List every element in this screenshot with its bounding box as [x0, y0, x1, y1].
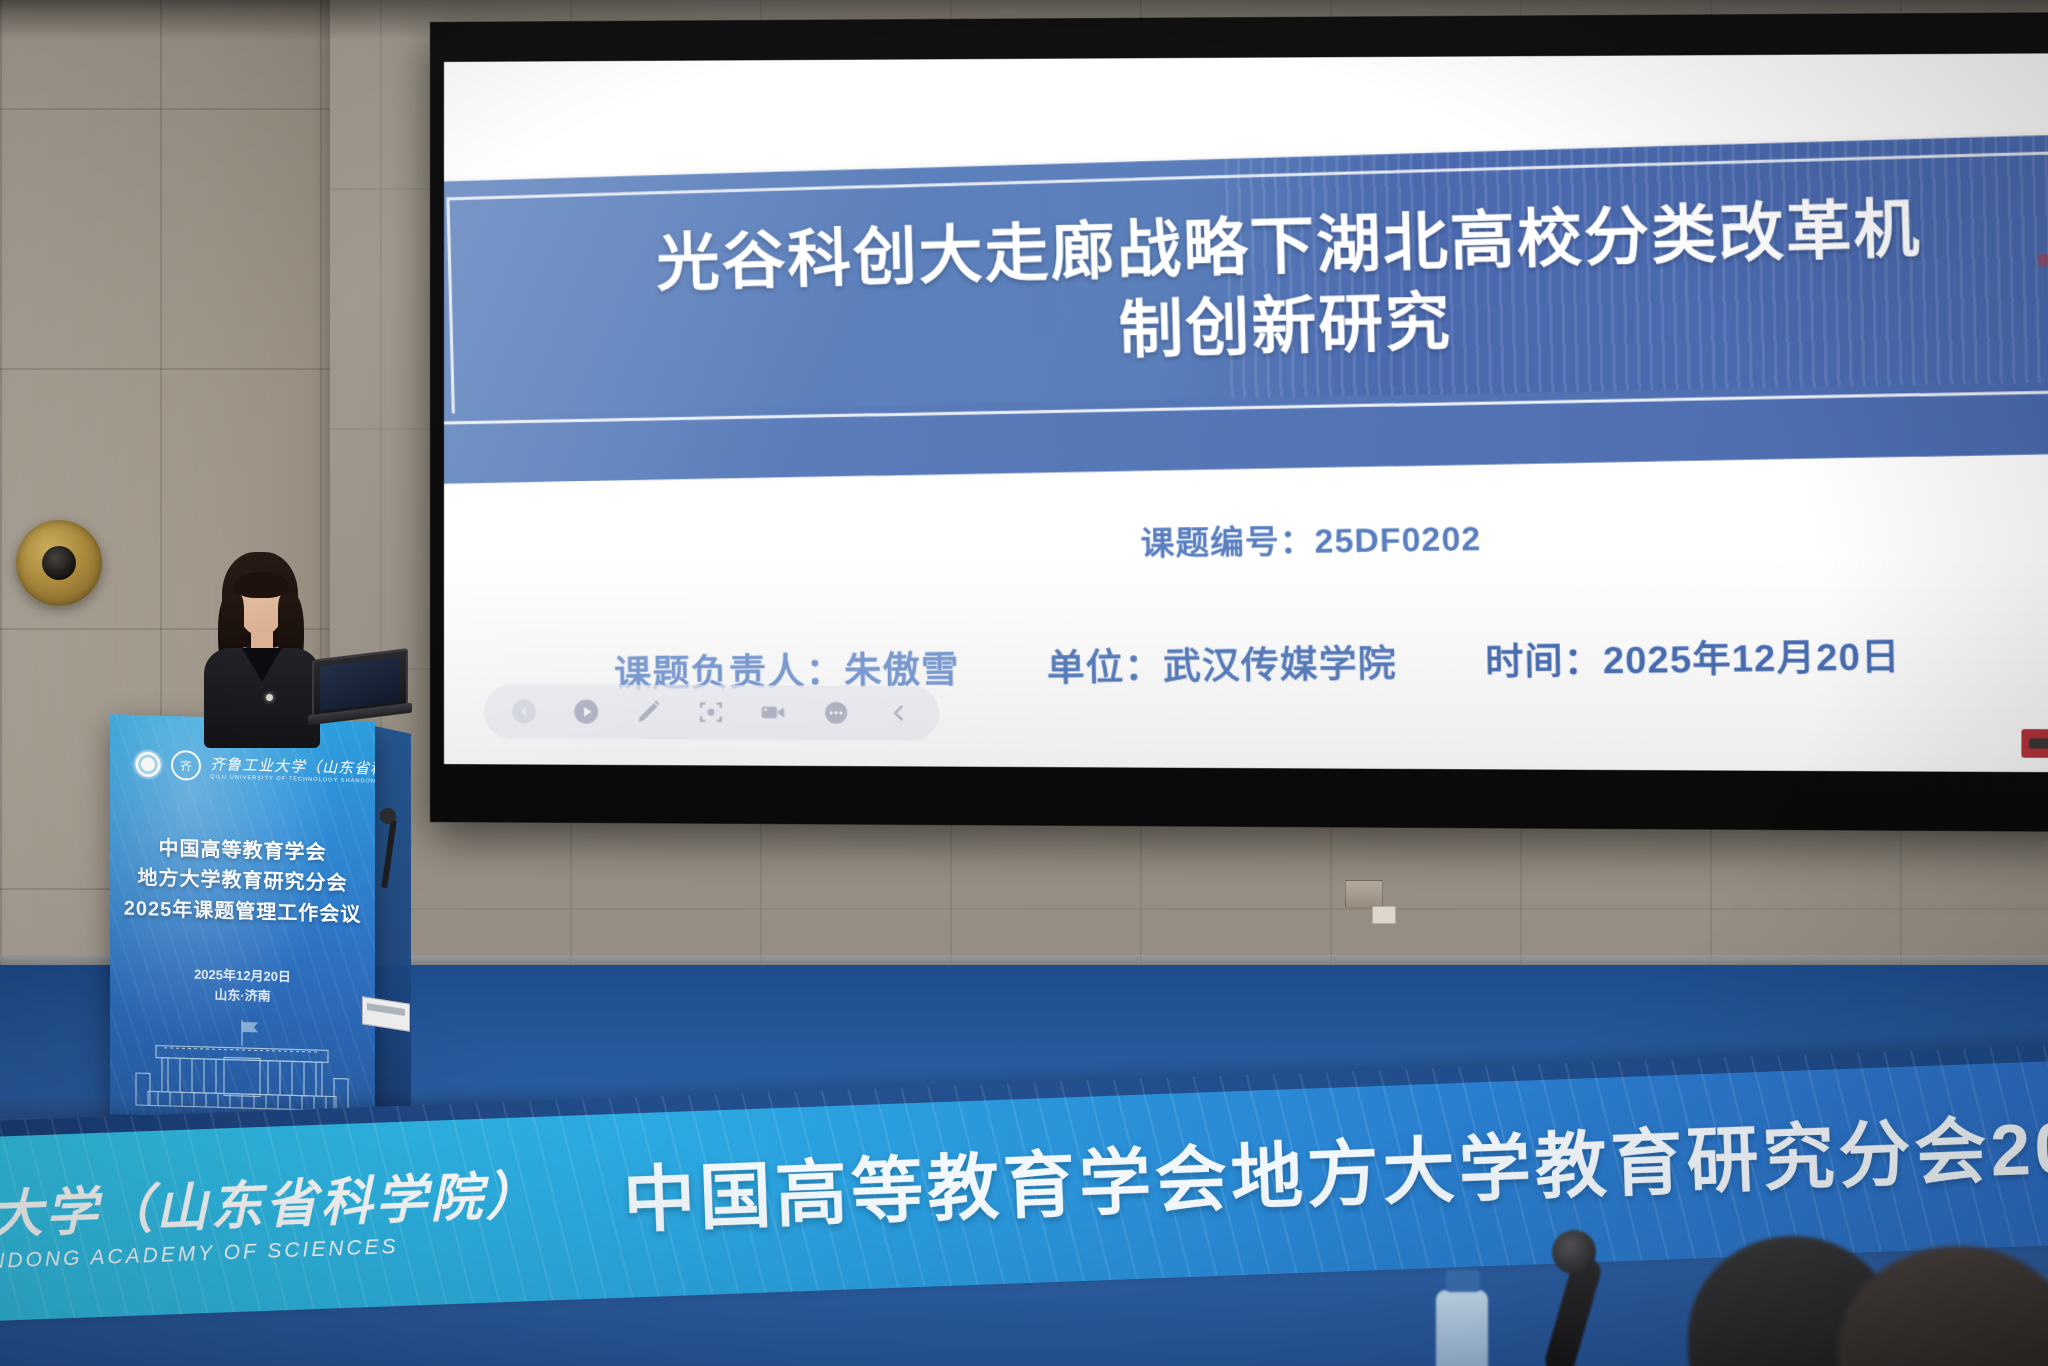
speaker-person [196, 552, 326, 742]
wall-clock-icon [16, 520, 102, 606]
more-icon[interactable] [818, 695, 854, 731]
led-screen: 光谷科创大走廊战略下湖北高校分类改革机 制创新研究 课题编号：25DF0202 … [430, 12, 2048, 832]
podium-date-location: 2025年12月20日 山东·济南 [110, 962, 375, 1008]
water-bottle [1436, 1290, 1488, 1366]
project-unit: 单位：武汉传媒学院 [1046, 632, 1397, 691]
collapse-chevron-icon[interactable] [881, 695, 917, 731]
podium: 齐 齐鲁工业大学（山东省科学院） QILU UNIVERSITY OF TECH… [110, 714, 375, 1121]
speaker-fringe [234, 572, 288, 598]
project-date: 时间：2025年12月20日 [1485, 625, 1901, 686]
microphone-head [380, 808, 396, 824]
podium-title: 中国高等教育学会 地方大学教育研究分会 2025年课题管理工作会议 [110, 832, 375, 931]
laptop [312, 648, 408, 732]
pen-icon[interactable] [630, 694, 666, 730]
building-illustration-icon [128, 1015, 356, 1117]
play-icon[interactable] [568, 694, 604, 730]
screen-corner-marker [2038, 254, 2048, 266]
screen-display-area: 光谷科创大走廊战略下湖北高校分类改革机 制创新研究 课题编号：25DF0202 … [444, 53, 2048, 772]
wall-vent [1345, 880, 1383, 908]
camera-icon[interactable] [755, 694, 791, 730]
slide-metadata: 课题编号：25DF0202 课题负责人：朱傲雪 单位：武汉传媒学院 时间：202… [444, 502, 2048, 700]
university-emblem-icon: 齐 [171, 750, 201, 781]
wall-outlet [1372, 906, 1396, 924]
water-bottle-label [1446, 1270, 1480, 1292]
focus-icon[interactable] [693, 694, 729, 730]
podium-name-card-line [367, 1003, 405, 1016]
presentation-toolbar[interactable] [484, 684, 939, 740]
presentation-slide: 光谷科创大走廊战略下湖北高校分类改革机 制创新研究 课题编号：25DF0202 … [444, 53, 2048, 772]
speaker-brooch [266, 694, 273, 701]
laptop-screen [320, 657, 400, 711]
back-icon[interactable] [506, 693, 542, 729]
project-code: 课题编号：25DF0202 [563, 502, 2048, 574]
conference-photo-scene: 光谷科创大走廊战略下湖北高校分类改革机 制创新研究 课题编号：25DF0202 … [0, 0, 2048, 1366]
podium-org-logo: 齐鲁工业大学（山东省科学院） QILU UNIVERSITY OF TECHNO… [210, 753, 375, 787]
screen-cursor-marker [2021, 729, 2048, 758]
foreground-microphone-head [1552, 1230, 1596, 1274]
association-seal-icon [134, 750, 162, 779]
podium-side-panel [375, 726, 411, 1124]
